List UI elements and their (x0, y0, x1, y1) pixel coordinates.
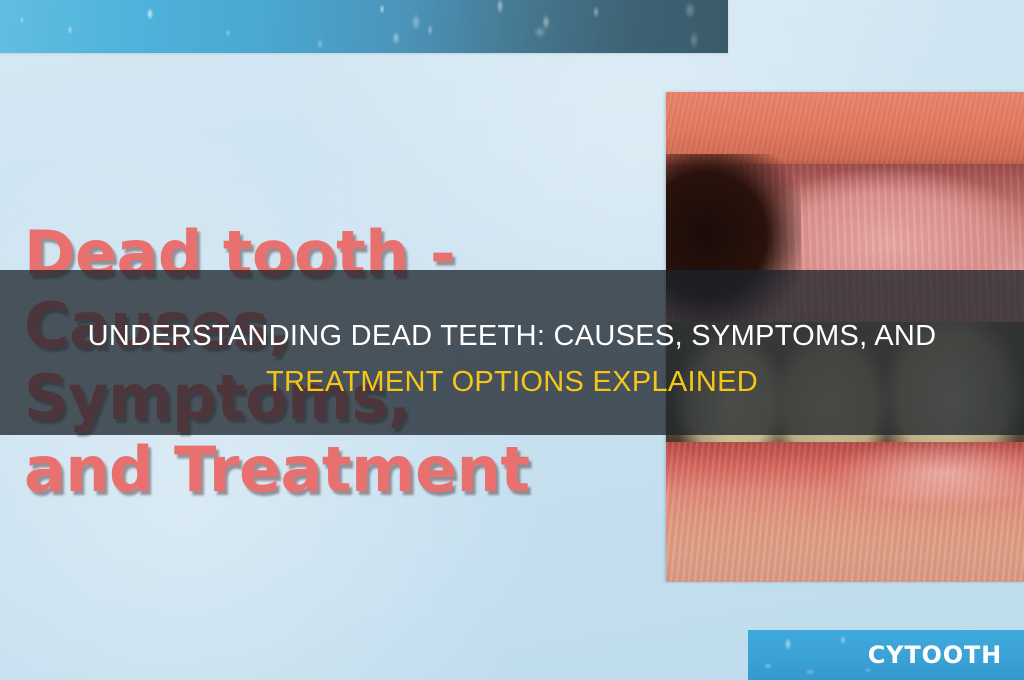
overlay-title-line-2: TREATMENT OPTIONS EXPLAINED (0, 366, 1024, 399)
water-droplet-banner (0, 0, 728, 53)
overlay-title-line-1: UNDERSTANDING DEAD TEETH: CAUSES, SYMPTO… (0, 320, 1024, 353)
photo-lower-lip (666, 442, 1024, 582)
hero-card: Dead tooth - Causes, Symptoms, and Treat… (0, 0, 1024, 680)
brand-panel[interactable]: CYTOOTH (748, 630, 1024, 680)
brand-name: CYTOOTH (868, 641, 1002, 669)
